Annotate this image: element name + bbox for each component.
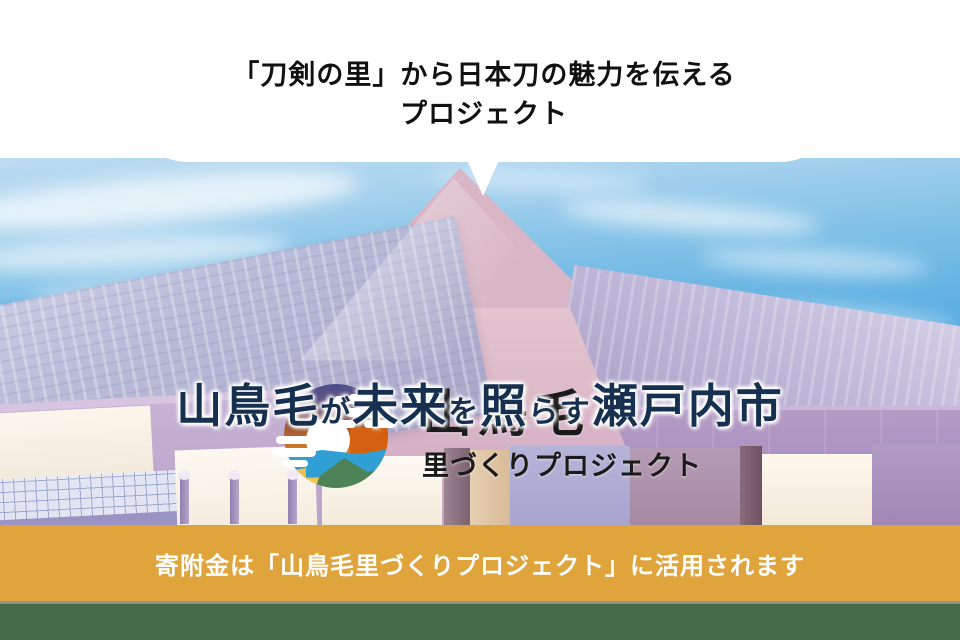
donation-notice-bar: 寄附金は「山鳥毛里づくりプロジェクト」に活用されます — [0, 525, 960, 601]
tagline-particle-wo: を — [448, 396, 480, 429]
donation-notice-text: 寄附金は「山鳥毛里づくりプロジェクト」に活用されます — [155, 546, 805, 581]
building-post — [180, 476, 189, 524]
tagline-part-1: 山鳥毛 — [176, 380, 320, 432]
logo-sub-text: 里づくりプロジェクト — [422, 444, 702, 483]
tagline-suffix-rasu: らす — [528, 396, 591, 429]
speech-bubble-line-1: 「刀剣の里」から日本刀の魅力を伝える — [232, 56, 735, 95]
tagline-part-4: 瀬戸内市 — [592, 380, 784, 432]
building-panel — [762, 454, 872, 525]
footer-divider — [0, 601, 960, 604]
tagline-particle-ga: が — [320, 396, 352, 429]
tagline-part-3: 照 — [480, 380, 528, 432]
footer-green-bar — [0, 604, 960, 640]
speech-bubble-tail — [466, 158, 500, 196]
building-wall-far-right — [872, 444, 960, 525]
tagline-part-2: 未来 — [352, 380, 448, 432]
building-post — [230, 476, 239, 524]
speech-bubble-line-2: プロジェクト — [232, 95, 735, 134]
promo-banner: 山鳥毛 里づくりプロジェクト 山鳥毛が未来を照らす瀬戸内市 — [0, 0, 960, 640]
building-pillar — [740, 446, 762, 525]
speech-bubble: 「刀剣の里」から日本刀の魅力を伝える プロジェクト — [122, 28, 846, 162]
hero-tagline: 山鳥毛が未来を照らす瀬戸内市 — [0, 370, 960, 436]
speech-bubble-text: 「刀剣の里」から日本刀の魅力を伝える プロジェクト — [232, 56, 735, 135]
hero-image: 山鳥毛 里づくりプロジェクト 山鳥毛が未来を照らす瀬戸内市 — [0, 158, 960, 525]
